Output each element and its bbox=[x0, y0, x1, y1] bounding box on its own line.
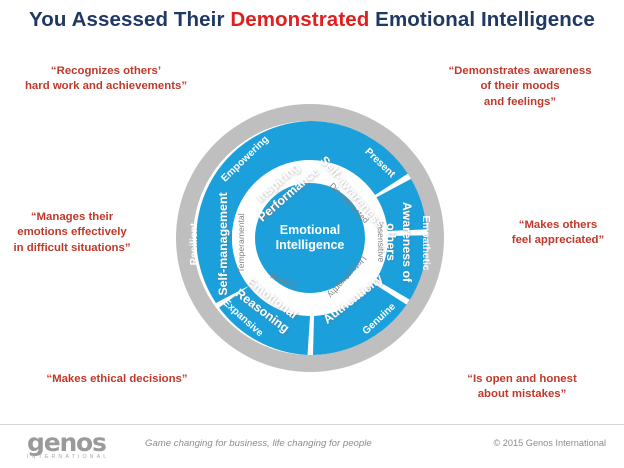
quote-top-right: “Demonstrates awareness of their moods a… bbox=[420, 64, 620, 110]
slide-canvas: You Assessed Their Demonstrated Emotiona… bbox=[0, 0, 624, 468]
core-label-line2: Intelligence bbox=[276, 238, 345, 252]
footer-tagline: Game changing for business, life changin… bbox=[145, 438, 372, 449]
outer-trait-empathetic: Empathetic bbox=[420, 216, 431, 271]
competency-awareness-of-others-line1: Awareness of bbox=[400, 202, 414, 283]
competency-self-management: Self-management bbox=[216, 192, 230, 295]
quote-bottom-right: “Is open and honest about mistakes” bbox=[424, 372, 620, 403]
quote-middle-right: “Makes others feel appreciated” bbox=[494, 218, 622, 249]
genos-logo: genos INTERNATIONAL bbox=[27, 430, 137, 460]
quote-bottom-left: “Makes ethical decisions” bbox=[14, 372, 220, 387]
competency-awareness-of-others-line2: others bbox=[384, 223, 398, 261]
title-text-after: Emotional Intelligence bbox=[369, 8, 595, 31]
title-text-before: You Assessed Their bbox=[29, 8, 230, 31]
quote-top-left: “Recognizes others’ hard work and achiev… bbox=[8, 64, 204, 95]
wheel-svg: Emotional Intelligence Indifferent Disco… bbox=[175, 103, 445, 373]
logo-subtitle: INTERNATIONAL bbox=[27, 454, 137, 460]
page-title: You Assessed Their Demonstrated Emotiona… bbox=[0, 8, 624, 32]
outer-trait-resilient: Resilient bbox=[189, 222, 200, 265]
footer-divider bbox=[0, 424, 624, 425]
logo-wordmark: genos bbox=[27, 430, 137, 456]
core-label-line1: Emotional bbox=[280, 223, 340, 237]
inner-trait-temperamental: Temperamental bbox=[236, 213, 246, 272]
footer-copyright: © 2015 Genos International bbox=[493, 438, 606, 448]
title-text-highlight: Demonstrated bbox=[230, 8, 369, 31]
emotional-intelligence-wheel: Emotional Intelligence Indifferent Disco… bbox=[175, 103, 445, 373]
quote-middle-left: “Manages their emotions effectively in d… bbox=[2, 210, 142, 256]
